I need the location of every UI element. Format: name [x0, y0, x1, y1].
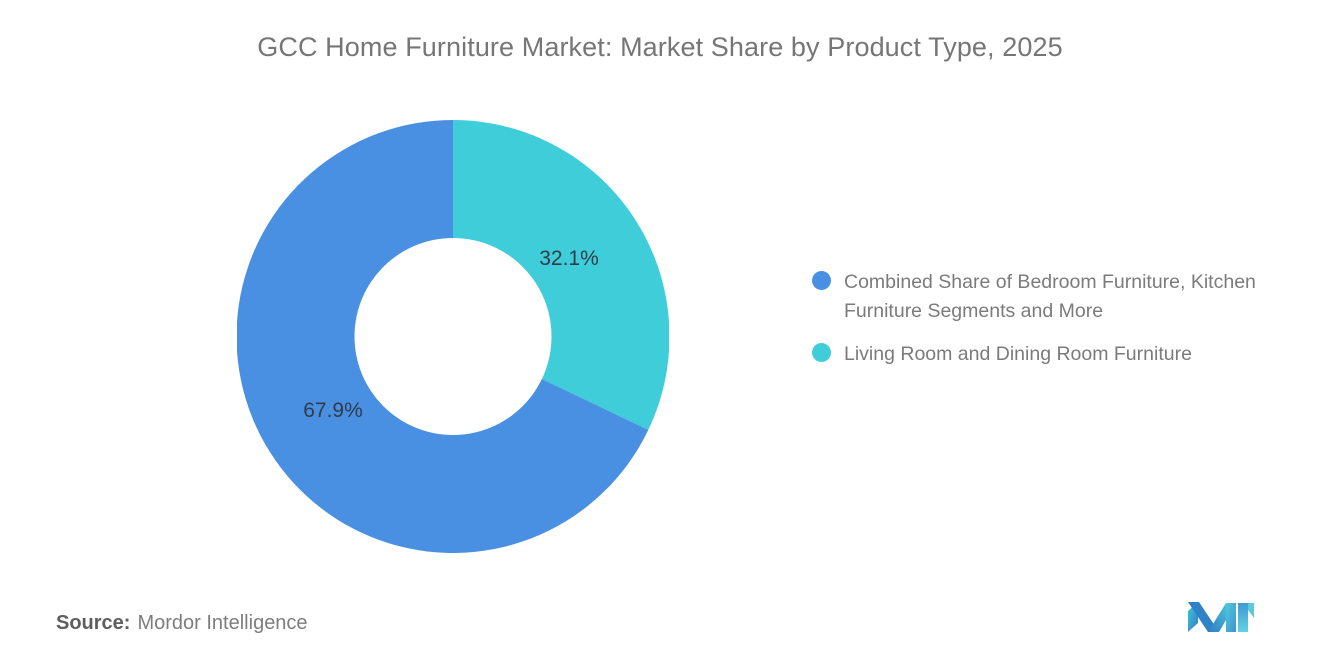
legend-label-combined-share: Combined Share of Bedroom Furniture, Kit… — [844, 268, 1264, 326]
chart-figure: GCC Home Furniture Market: Market Share … — [0, 0, 1320, 665]
source-line: Source:Mordor Intelligence — [56, 612, 308, 635]
source-label: Source: — [56, 612, 130, 634]
slice-value-label-combined-share: 67.9% — [303, 399, 363, 422]
legend-label-living-dining: Living Room and Dining Room Furniture — [844, 340, 1192, 369]
donut-chart-svg: 32.1% 67.9% — [237, 120, 669, 553]
legend-swatch-icon-combined-share — [812, 271, 831, 290]
slice-value-label-living-dining: 32.1% — [539, 247, 599, 270]
chart-legend: Combined Share of Bedroom Furniture, Kit… — [812, 268, 1282, 383]
brand-logo-svg — [1186, 598, 1256, 638]
source-value: Mordor Intelligence — [137, 612, 307, 634]
donut-chart: 32.1% 67.9% — [237, 120, 669, 553]
legend-swatch-icon-living-dining — [812, 343, 831, 362]
donut-center-hole — [355, 238, 552, 435]
legend-item-combined-share[interactable]: Combined Share of Bedroom Furniture, Kit… — [812, 268, 1282, 326]
page-title: GCC Home Furniture Market: Market Share … — [0, 32, 1320, 63]
mordor-intelligence-logo-icon — [1186, 598, 1256, 638]
legend-item-living-dining[interactable]: Living Room and Dining Room Furniture — [812, 340, 1282, 369]
